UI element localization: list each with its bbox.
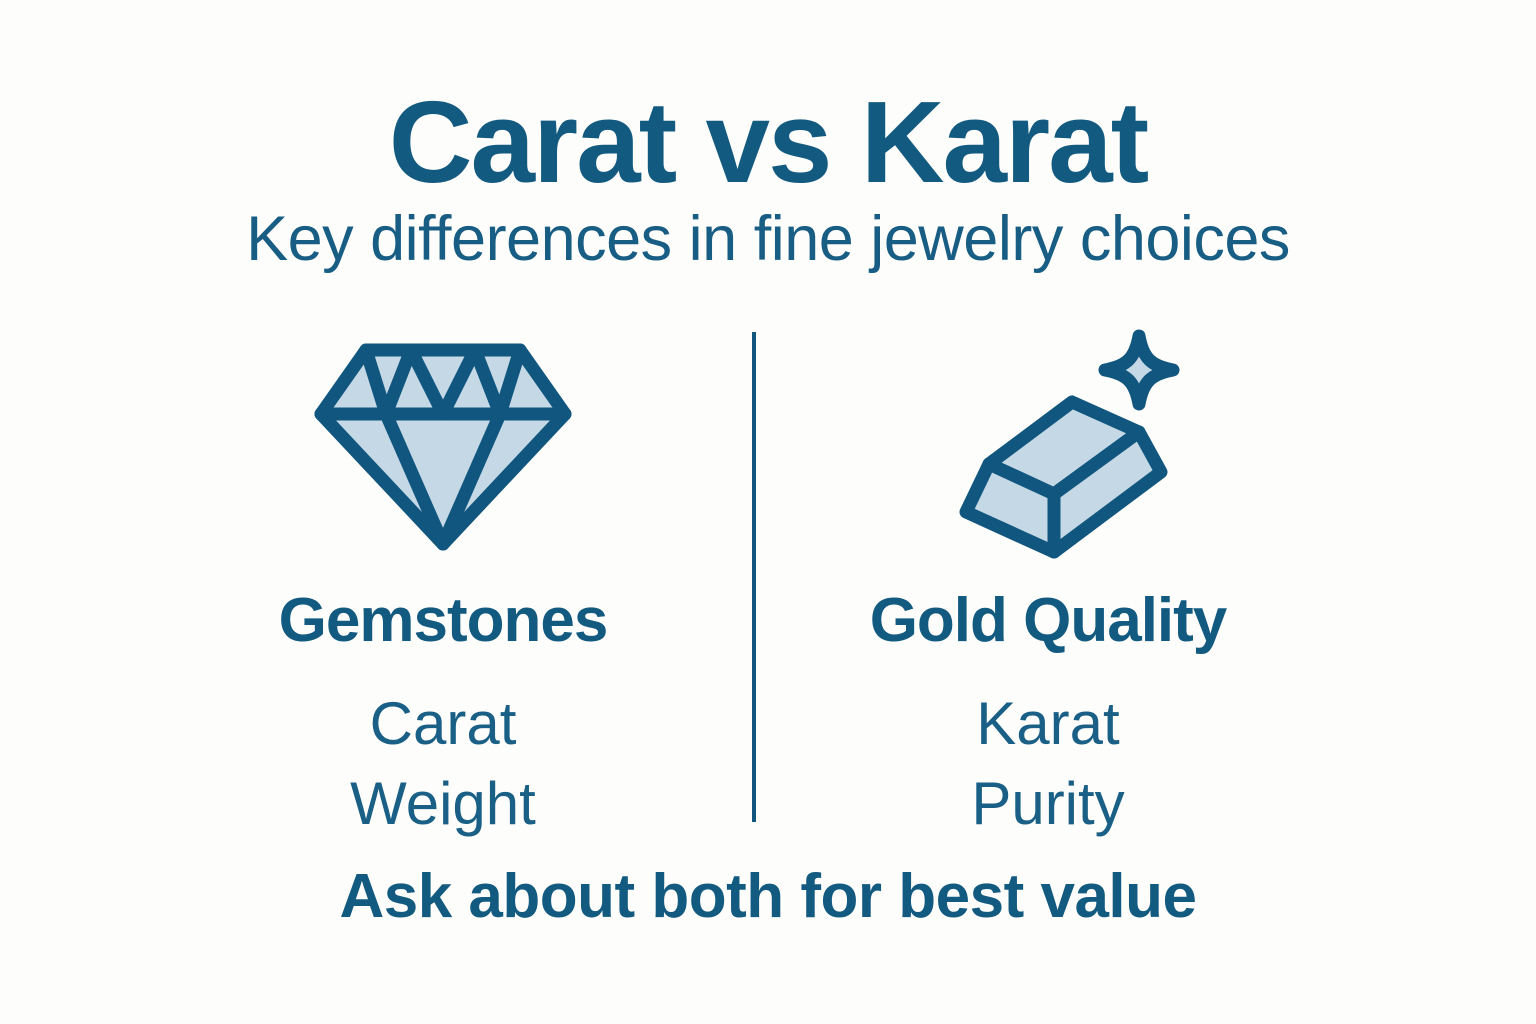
detail-carat: Carat <box>133 684 753 764</box>
infographic-canvas: Carat vs Karat Key differences in fine j… <box>0 0 1536 1024</box>
column-heading-gemstones: Gemstones <box>133 590 753 652</box>
diamond-icon <box>298 332 588 557</box>
page-subtitle: Key differences in fine jewelry choices <box>0 208 1536 271</box>
gold-bar-icon <box>903 324 1193 564</box>
column-gold-quality: Gold Quality Karat Purity <box>738 320 1358 844</box>
column-details-gemstones: Carat Weight <box>133 684 753 844</box>
page-title: Carat vs Karat <box>0 84 1536 200</box>
detail-purity: Purity <box>738 764 1358 844</box>
gold-bar-icon-slot <box>738 320 1358 568</box>
diamond-icon-slot <box>133 320 753 568</box>
detail-weight: Weight <box>133 764 753 844</box>
column-details-gold-quality: Karat Purity <box>738 684 1358 844</box>
footer-callout: Ask about both for best value <box>0 866 1536 928</box>
column-heading-gold-quality: Gold Quality <box>738 590 1358 652</box>
detail-karat: Karat <box>738 684 1358 764</box>
sparkle-icon <box>1105 336 1173 404</box>
column-gemstones: Gemstones Carat Weight <box>133 320 753 844</box>
